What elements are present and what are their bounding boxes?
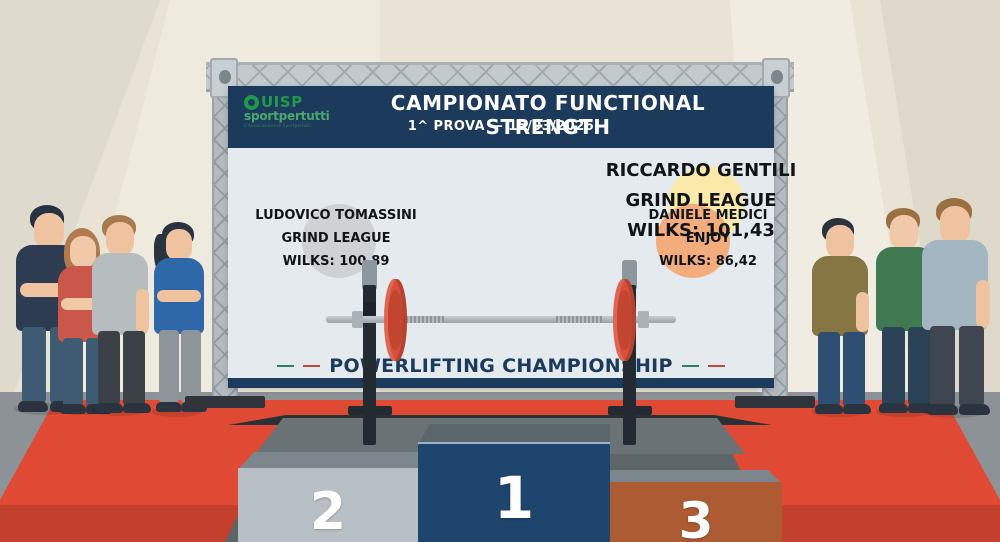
rack-base-left <box>348 406 392 415</box>
uisp-logo-mark-icon <box>244 95 259 110</box>
athlete-team: GRIND LEAGUE <box>236 231 436 246</box>
head <box>166 229 192 261</box>
arm <box>856 292 869 332</box>
arm <box>157 290 201 302</box>
leg-right <box>959 326 984 408</box>
leg-left <box>882 327 905 407</box>
banner-dash-green-left <box>277 365 294 367</box>
event-subtitle: 1^ PROVA — 15/03/2026 <box>228 119 774 134</box>
scene: UISP sportpertutti L'Associazione di Spo… <box>0 0 1000 542</box>
scoreboard-body: RICCARDO GENTILI GRIND LEAGUE WILKS: 101… <box>228 148 774 366</box>
truss-foot-right <box>735 396 815 408</box>
leg-left <box>98 331 120 407</box>
leg-right <box>843 332 865 408</box>
leg-left <box>159 330 179 404</box>
shoe-left <box>815 404 843 414</box>
shoe-left <box>18 401 48 412</box>
athlete-entry-second: LUDOVICO TOMASSINI GRIND LEAGUE WILKS: 1… <box>236 208 436 269</box>
athlete-name: RICCARDO GENTILI <box>581 160 821 181</box>
scoreboard-screen: UISP sportpertutti L'Associazione di Spo… <box>228 86 774 388</box>
leg-left <box>22 327 46 405</box>
weight-plate-right <box>613 279 636 361</box>
podium-rank-number: 3 <box>610 492 782 542</box>
shoe-left <box>156 402 182 412</box>
podium-rank-number: 2 <box>238 482 418 542</box>
arm <box>976 280 990 328</box>
barbell-collar-left <box>352 311 363 328</box>
rack-base-right <box>608 406 652 415</box>
athlete-wilks: WILKS: 100,89 <box>236 254 436 269</box>
shoe-left <box>927 404 958 415</box>
shoe-left <box>60 404 86 414</box>
shoe-right <box>843 404 871 414</box>
shoe-left <box>879 403 908 413</box>
shoe-right <box>959 404 990 415</box>
head <box>890 215 918 250</box>
head <box>826 225 854 259</box>
leg-left <box>818 332 840 408</box>
banner-dash-red-right <box>708 365 725 367</box>
scoreboard-banner: POWERLIFTING CHAMPIONSHIP <box>228 356 774 376</box>
banner-dash-red-left <box>303 365 320 367</box>
podium-first-place: 1 <box>418 424 610 542</box>
banner-dash-green-right <box>682 365 699 367</box>
athlete-team: ENJOY <box>618 231 798 246</box>
head <box>106 222 134 256</box>
athlete-name: LUDOVICO TOMASSINI <box>236 208 436 223</box>
arm <box>136 289 149 333</box>
leg-right <box>123 331 145 407</box>
athlete-wilks: WILKS: 86,42 <box>618 254 798 269</box>
shoe-left <box>95 403 123 413</box>
head <box>940 206 970 244</box>
shoe-right <box>123 403 151 413</box>
weight-plate-inner <box>388 290 403 350</box>
podium-second-place: 2 <box>238 452 418 542</box>
barbell-collar-right <box>638 311 649 328</box>
weight-plate-inner <box>617 290 632 350</box>
truss-foot-left <box>185 396 265 408</box>
leg-right <box>181 330 201 404</box>
podium-third-place: 3 <box>610 470 782 542</box>
scoreboard-footer-strip <box>228 378 774 388</box>
leg-left <box>930 326 955 408</box>
scoreboard-header: UISP sportpertutti L'Associazione di Spo… <box>228 86 774 148</box>
barbell-knurling-right <box>556 316 602 323</box>
leg-left <box>63 338 83 408</box>
athlete-entry-third: DANIELE MEDICI ENJOY WILKS: 86,42 <box>618 208 798 269</box>
leg-right <box>908 327 931 407</box>
uisp-logo-text: UISP <box>244 94 328 110</box>
podium-top-surface <box>418 424 610 444</box>
podium-rank-number: 1 <box>418 464 610 532</box>
head <box>34 213 64 249</box>
athlete-name: DANIELE MEDICI <box>618 208 798 223</box>
weight-plate-left <box>384 279 407 361</box>
